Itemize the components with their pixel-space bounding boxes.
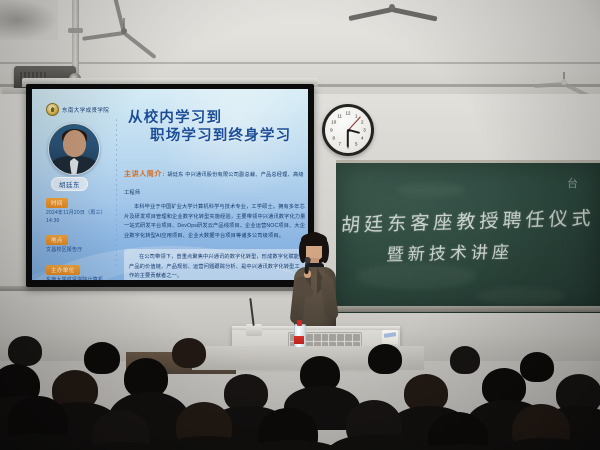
water-bottle xyxy=(294,320,304,348)
clock-tick-5: 5 xyxy=(355,142,358,147)
ceiling-clutter xyxy=(0,0,58,40)
chalk-smudge xyxy=(396,183,466,197)
clock-hour-hand xyxy=(348,129,360,134)
audience-head xyxy=(84,342,120,374)
clock-tick-7: 7 xyxy=(338,142,341,147)
fan-blade xyxy=(348,7,392,21)
blackboard-heading-line1: 胡廷东客座教授聘任仪式 xyxy=(335,203,600,237)
clock-tick-9: 9 xyxy=(330,128,333,133)
speaker-name-badge: 胡廷东 xyxy=(51,177,88,191)
portrait-head xyxy=(63,130,86,157)
info-value-location: 文昌校区报告厅 xyxy=(46,247,108,255)
bottle-label xyxy=(294,336,304,344)
fan-blade xyxy=(82,31,124,41)
audience-head xyxy=(8,336,42,366)
slide-title-line2: 职场学习到终身学习 xyxy=(150,127,304,145)
slide-body: 主讲人简介：胡廷东 中兴通讯股份有限公司副总裁、产品总经理、高级工程师 本科毕业… xyxy=(124,163,306,242)
projection-screen: 东南大学成贤学院 胡廷东 时间 2024年11月20日（周三）14:30 地点 … xyxy=(26,84,314,287)
ceiling-seam xyxy=(0,62,600,64)
ceiling-fan-2 xyxy=(352,0,432,20)
ceiling-fan-3 xyxy=(534,72,594,92)
info-block: 主办单位 东南大学成贤学院计算机工程学院 xyxy=(46,259,108,281)
fan-hub xyxy=(561,79,567,85)
bio-quote: 在公司带领下，曾重点聚焦中兴通讯的数字化转型，形成数字化赋能产品的价值链、产品规… xyxy=(124,249,306,280)
presenter-hair-right xyxy=(322,240,329,263)
info-tag-organizer: 主办单位 xyxy=(46,265,80,275)
bio-paragraph: 本科毕业于中国矿业大学计算机科学与技术专业，工学硕士。拥有多年芯片及研发项目管理… xyxy=(124,203,306,242)
fan-hub xyxy=(121,28,127,34)
info-block: 地点 文昌校区报告厅 xyxy=(46,229,108,255)
bottle-cap xyxy=(297,320,302,326)
info-value-organizer: 东南大学成贤学院计算机工程学院 xyxy=(46,277,108,281)
audience xyxy=(0,330,600,450)
slide-title: 从校内学习到 职场学习到终身学习 xyxy=(128,109,304,145)
blackboard-corner-note: 台 xyxy=(567,175,578,191)
fan-blade xyxy=(123,31,157,59)
clock-tick-11: 11 xyxy=(337,113,342,118)
clock-minute-hand xyxy=(347,130,349,147)
info-block: 时间 2024年11月20日（周三）14:30 xyxy=(46,192,108,225)
audience-head xyxy=(368,344,402,374)
chalk-smudge xyxy=(476,287,566,305)
blackboard: 台 胡廷东客座教授聘任仪式 暨新技术讲座 xyxy=(336,160,600,313)
fan-hub xyxy=(389,4,395,10)
tissue-box xyxy=(382,330,398,344)
slide-info-sidebar: 时间 2024年11月20日（周三）14:30 地点 文昌校区报告厅 主办单位 … xyxy=(46,192,108,280)
presentation-slide: 东南大学成贤学院 胡廷东 时间 2024年11月20日（周三）14:30 地点 … xyxy=(32,89,308,280)
clock-center-pin xyxy=(347,129,350,132)
clock-tick-2: 2 xyxy=(361,119,364,124)
fan-blade xyxy=(534,82,564,88)
ceiling-fan-1 xyxy=(84,18,164,44)
bio-intro-line: 主讲人简介：胡廷东 中兴通讯股份有限公司副总裁、产品总经理、高级工程师 xyxy=(124,163,306,199)
clock-tick-3: 3 xyxy=(363,128,366,133)
fan-blade xyxy=(391,7,437,21)
audience-head xyxy=(520,352,554,382)
clock-tick-8: 8 xyxy=(332,136,335,141)
audience-head xyxy=(450,346,480,374)
blackboard-heading-line2: 暨新技术讲座 xyxy=(317,236,584,267)
info-value-time: 2024年11月20日（周三）14:30 xyxy=(46,210,108,225)
bio-heading: 主讲人简介 xyxy=(124,171,162,178)
university-crest-icon xyxy=(46,103,59,116)
university-name: 东南大学成贤学院 xyxy=(62,106,109,114)
lecture-hall-photo: 台 胡廷东客座教授聘任仪式 暨新技术讲座 12 1 2 3 4 5 6 7 8 … xyxy=(0,0,600,450)
chalk-tray xyxy=(336,306,600,312)
clock-tick-1: 1 xyxy=(355,113,358,118)
audience-head xyxy=(172,338,206,368)
chalk-smudge xyxy=(356,263,476,289)
info-tag-location: 地点 xyxy=(46,235,68,245)
slide-divider xyxy=(116,119,117,267)
clock-tick-12: 12 xyxy=(345,111,350,116)
slide-title-line1: 从校内学习到 xyxy=(128,109,304,127)
clock-tick-10: 10 xyxy=(331,119,336,124)
speaker-portrait-avatar xyxy=(48,123,100,175)
info-tag-time: 时间 xyxy=(46,198,68,208)
clock-second-hand xyxy=(348,116,361,130)
clock-tick-4: 4 xyxy=(361,136,364,141)
wall-clock: 12 1 2 3 4 5 6 7 8 9 10 11 xyxy=(322,104,374,156)
slide-logo: 东南大学成贤学院 xyxy=(46,103,109,116)
